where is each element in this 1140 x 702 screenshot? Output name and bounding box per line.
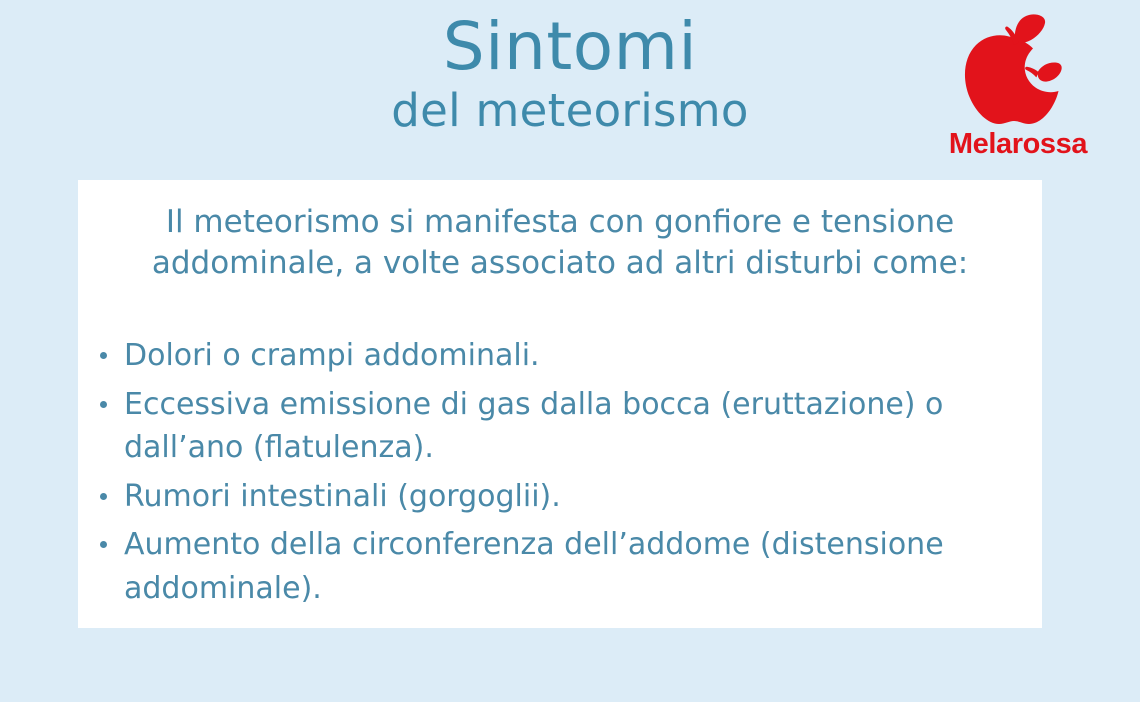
header: Sintomi del meteorismo Melarossa — [0, 0, 1140, 180]
list-item-label: Rumori intestinali (gorgoglii). — [124, 479, 561, 514]
red-apple-with-bite-icon — [959, 14, 1077, 126]
intro-paragraph: Il meteorismo si manifesta con gonfiore … — [78, 180, 1042, 284]
bullet-dot-icon — [100, 493, 107, 500]
content-card: Il meteorismo si manifesta con gonfiore … — [78, 180, 1042, 628]
brand-logo: Melarossa — [948, 14, 1088, 161]
list-item-label: Aumento della circonferenza dell’addome … — [124, 527, 944, 606]
list-item: Rumori intestinali (gorgoglii). — [96, 475, 1042, 519]
symptom-list: Dolori o crampi addominali. Eccessiva em… — [78, 284, 1042, 610]
bullet-dot-icon — [100, 541, 107, 548]
list-item: Eccessiva emissione di gas dalla bocca (… — [96, 383, 1042, 470]
list-item-label: Eccessiva emissione di gas dalla bocca (… — [124, 387, 943, 466]
bullet-dot-icon — [100, 352, 107, 359]
list-item: Aumento della circonferenza dell’addome … — [96, 523, 1042, 610]
brand-wordmark: Melarossa — [948, 128, 1088, 161]
list-item: Dolori o crampi addominali. — [96, 334, 1042, 378]
bullet-dot-icon — [100, 401, 107, 408]
list-item-label: Dolori o crampi addominali. — [124, 338, 540, 373]
